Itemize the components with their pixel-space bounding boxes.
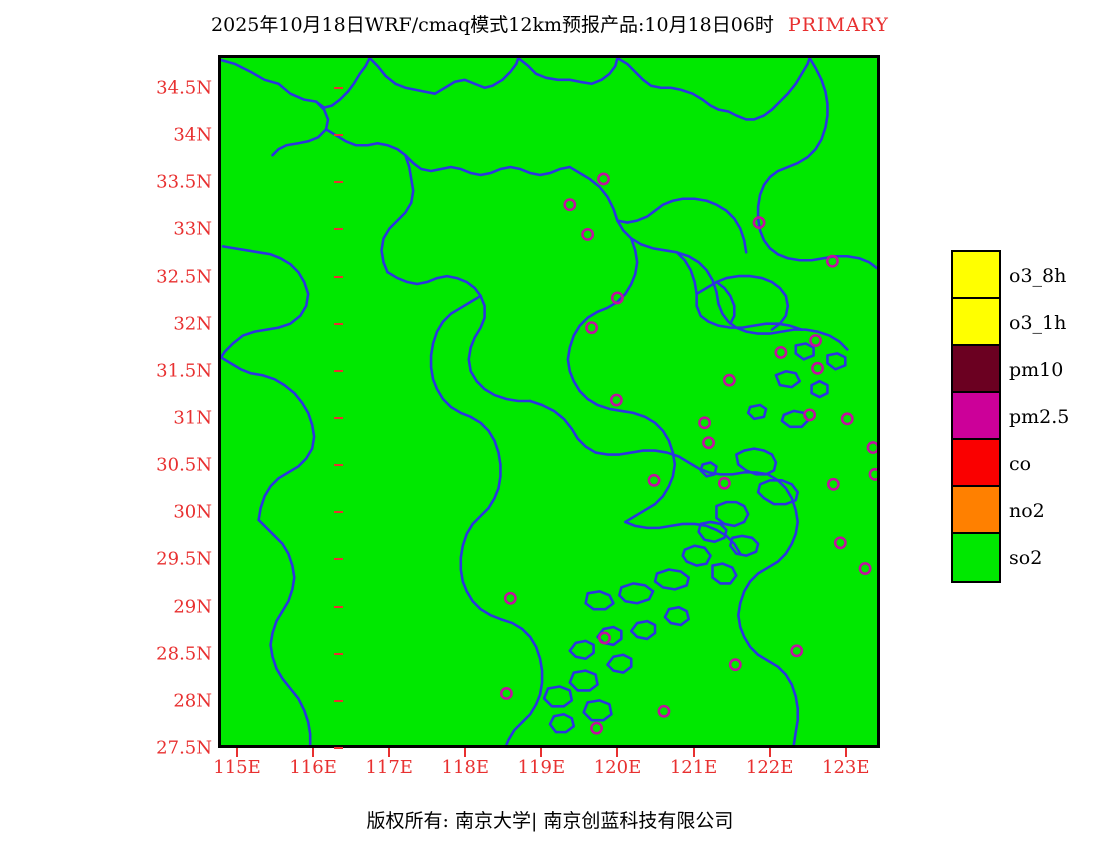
legend-label-pm2-5: pm2.5 [1009, 406, 1069, 428]
legend-color-column [951, 250, 1001, 583]
y-axis-tick-label: 34.5N [132, 78, 212, 99]
x-axis-tick-mark [312, 748, 314, 757]
y-axis-tick-mark [334, 276, 343, 278]
y-axis-tick-mark [334, 134, 343, 136]
y-axis-tick-label: 27.5N [132, 738, 212, 759]
legend-swatch-co[interactable] [953, 440, 999, 487]
legend-swatch-so2[interactable] [953, 534, 999, 581]
y-axis-tick-mark [334, 417, 343, 419]
y-axis-tick-mark [334, 87, 343, 89]
map-vector-layer [221, 58, 877, 745]
y-axis-tick-label: 33.5N [132, 172, 212, 193]
y-axis-tick-mark [334, 181, 343, 183]
legend-label-no2: no2 [1009, 500, 1045, 522]
legend-swatch-o3-8h[interactable] [953, 252, 999, 299]
legend-label-o3-1h: o3_1h [1009, 312, 1066, 334]
x-axis-tick-mark [693, 748, 695, 757]
y-axis-tick-label: 34N [132, 125, 212, 146]
y-axis-tick-mark [334, 228, 343, 230]
y-axis-tick-label: 32.5N [132, 266, 212, 287]
y-axis-tick-mark [334, 558, 343, 560]
legend-label-so2: so2 [1009, 547, 1042, 569]
y-axis-tick-mark [334, 653, 343, 655]
y-axis-tick-label: 29N [132, 596, 212, 617]
legend-swatch-no2[interactable] [953, 487, 999, 534]
y-axis-tick-label: 30.5N [132, 455, 212, 476]
x-axis-tick-mark [464, 748, 466, 757]
x-axis-tick-label: 123E [801, 757, 891, 778]
y-axis-tick-label: 29.5N [132, 549, 212, 570]
forecast-map-page: 2025年10月18日WRF/cmaq模式12km预报产品:10月18日06时P… [0, 0, 1100, 850]
legend-swatch-o3-1h[interactable] [953, 299, 999, 346]
y-axis-tick-label: 33N [132, 219, 212, 240]
latitude-axis: 34.5N34N33.5N33N32.5N32N31.5N31N30.5N30N… [126, 0, 212, 850]
y-axis-tick-mark [334, 700, 343, 702]
y-axis-tick-mark [334, 370, 343, 372]
y-axis-tick-mark [334, 323, 343, 325]
y-axis-tick-mark [334, 606, 343, 608]
x-axis-tick-mark [845, 748, 847, 757]
y-axis-tick-label: 30N [132, 502, 212, 523]
x-axis-tick-mark [236, 748, 238, 757]
x-axis-tick-mark [388, 748, 390, 757]
y-axis-tick-label: 28N [132, 690, 212, 711]
legend-swatch-pm10[interactable] [953, 346, 999, 393]
legend-swatch-pm2-5[interactable] [953, 393, 999, 440]
map-canvas[interactable] [218, 55, 880, 748]
y-axis-tick-label: 32N [132, 313, 212, 334]
y-axis-tick-label: 28.5N [132, 643, 212, 664]
x-axis-tick-mark [540, 748, 542, 757]
y-axis-tick-label: 31.5N [132, 360, 212, 381]
y-axis-tick-mark [334, 747, 343, 749]
legend-label-o3-8h: o3_8h [1009, 265, 1066, 287]
x-axis-tick-mark [616, 748, 618, 757]
copyright-footer: 版权所有: 南京大学| 南京创蓝科技有限公司 [0, 806, 1100, 833]
x-axis-tick-mark [769, 748, 771, 757]
y-axis-tick-label: 31N [132, 408, 212, 429]
map-background [221, 58, 877, 745]
legend-label-pm10: pm10 [1009, 359, 1063, 381]
y-axis-tick-mark [334, 464, 343, 466]
page-title-main: 2025年10月18日WRF/cmaq模式12km预报产品:10月18日06时 [211, 14, 774, 36]
y-axis-tick-mark [334, 511, 343, 513]
page-title-primary-badge: PRIMARY [788, 14, 889, 36]
legend-label-co: co [1009, 453, 1031, 475]
